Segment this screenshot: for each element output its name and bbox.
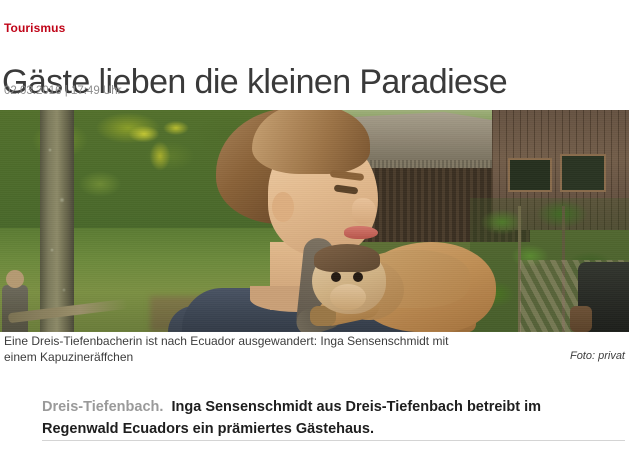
photo-caption: Eine Dreis-Tiefenbacherin ist nach Ecuad… <box>4 334 484 365</box>
photo-woman-ear <box>272 192 294 222</box>
photo-yellow-leaves <box>120 118 210 176</box>
photo-monkey-cap <box>314 244 380 272</box>
photo-person-left <box>2 285 28 332</box>
photo-person-left-head <box>6 270 24 288</box>
photo-lodge-window-right <box>560 154 606 192</box>
lead-dateline: Dreis-Tiefenbach. <box>42 399 171 415</box>
article-page: Tourismus Gäste lieben die kleinen Parad… <box>0 0 629 453</box>
photo-monkey-muzzle <box>330 284 366 310</box>
photo-trunk-lichen <box>40 110 74 332</box>
photo-woman-nose <box>352 198 376 224</box>
photo-lodge-window-left <box>508 158 552 192</box>
photo-person-right-arm <box>570 306 592 332</box>
content-divider <box>42 440 625 441</box>
article-timestamp: 02.03.2016 | 17:49 Uhr <box>4 84 121 98</box>
photo-woman-lips <box>344 226 378 239</box>
photo-monkey-eye-left <box>331 272 341 282</box>
photo-credit: Foto: privat <box>570 349 625 363</box>
photo-monkey-eye-right <box>353 272 363 282</box>
article-kicker[interactable]: Tourismus <box>4 21 65 35</box>
article-lead: Dreis-Tiefenbach.Inga Sensenschmidt aus … <box>42 396 607 440</box>
photo-woman-hair-front <box>252 110 370 174</box>
article-photo <box>0 110 629 332</box>
